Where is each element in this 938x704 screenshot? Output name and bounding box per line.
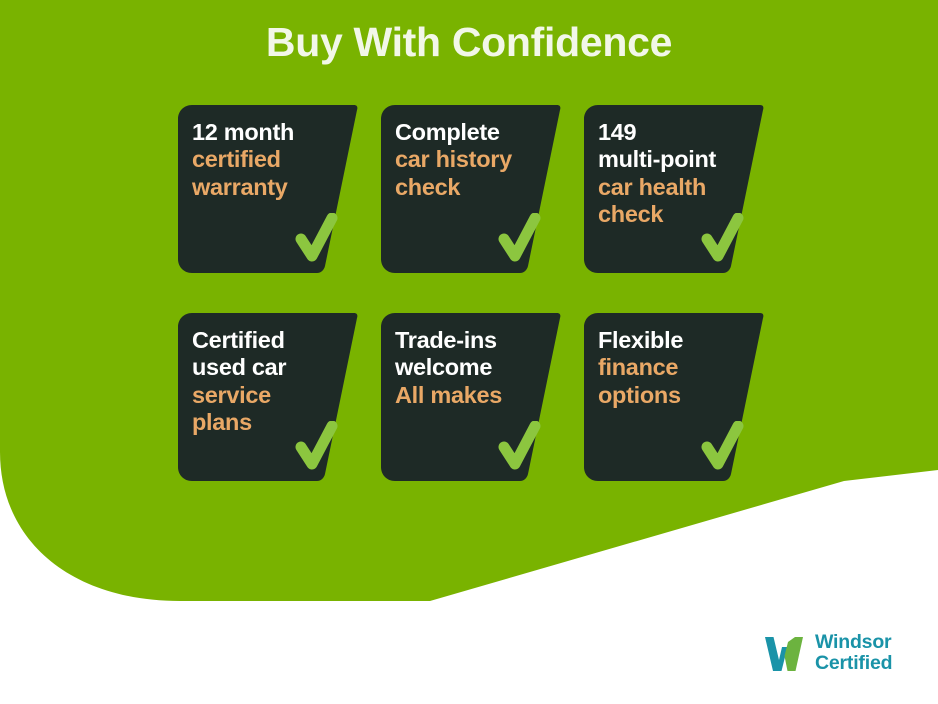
check-icon xyxy=(701,213,745,265)
check-icon xyxy=(498,213,542,265)
windsor-w-logo-icon xyxy=(762,633,806,673)
card-line-accent: service xyxy=(192,382,342,409)
card-line-accent: check xyxy=(395,174,545,201)
card-line-accent: car health xyxy=(598,174,748,201)
feature-card-complete-car-history-check[interactable]: Complete car history check xyxy=(381,105,561,273)
check-icon xyxy=(295,213,339,265)
card-line-accent: warranty xyxy=(192,174,342,201)
slide-canvas: Buy With Confidence 12 month certified w… xyxy=(0,0,938,704)
feature-card-flexible-finance-options[interactable]: Flexible finance options xyxy=(584,313,764,481)
check-icon xyxy=(295,421,339,473)
card-line-accent: All makes xyxy=(395,382,545,409)
check-icon xyxy=(701,421,745,473)
card-line-primary: used car xyxy=(192,354,342,381)
card-line-accent: options xyxy=(598,382,748,409)
feature-card-certified-used-car-service-plans[interactable]: Certified used car service plans xyxy=(178,313,358,481)
feature-card-12-month-certified-warranty[interactable]: 12 month certified warranty xyxy=(178,105,358,273)
feature-card-grid: 12 month certified warranty Complete car… xyxy=(178,105,778,508)
card-text: Trade-ins welcome All makes xyxy=(395,327,545,409)
card-row-top: 12 month certified warranty Complete car… xyxy=(178,105,778,300)
card-line-primary: Certified xyxy=(192,327,342,354)
feature-card-149-multi-point-car-health-check[interactable]: 149 multi-point car health check xyxy=(584,105,764,273)
card-line-primary: 149 xyxy=(598,119,748,146)
card-line-primary: welcome xyxy=(395,354,545,381)
logo-wordmark: Windsor Certified xyxy=(815,632,892,674)
card-row-bottom: Certified used car service plans Trade-i… xyxy=(178,313,778,508)
card-line-accent: certified xyxy=(192,146,342,173)
card-text: 12 month certified warranty xyxy=(192,119,342,201)
check-icon xyxy=(498,421,542,473)
card-text: Flexible finance options xyxy=(598,327,748,409)
card-line-primary: multi-point xyxy=(598,146,748,173)
card-line-primary: Trade-ins xyxy=(395,327,545,354)
page-title: Buy With Confidence xyxy=(0,18,938,67)
logo-line-certified: Certified xyxy=(815,653,892,674)
windsor-certified-logo[interactable]: Windsor Certified xyxy=(762,626,928,680)
card-line-primary: 12 month xyxy=(192,119,342,146)
logo-line-windsor: Windsor xyxy=(815,632,892,653)
card-line-primary: Complete xyxy=(395,119,545,146)
card-line-accent: car history xyxy=(395,146,545,173)
card-line-primary: Flexible xyxy=(598,327,748,354)
card-text: Complete car history check xyxy=(395,119,545,201)
feature-card-trade-ins-welcome-all-makes[interactable]: Trade-ins welcome All makes xyxy=(381,313,561,481)
card-line-accent: finance xyxy=(598,354,748,381)
